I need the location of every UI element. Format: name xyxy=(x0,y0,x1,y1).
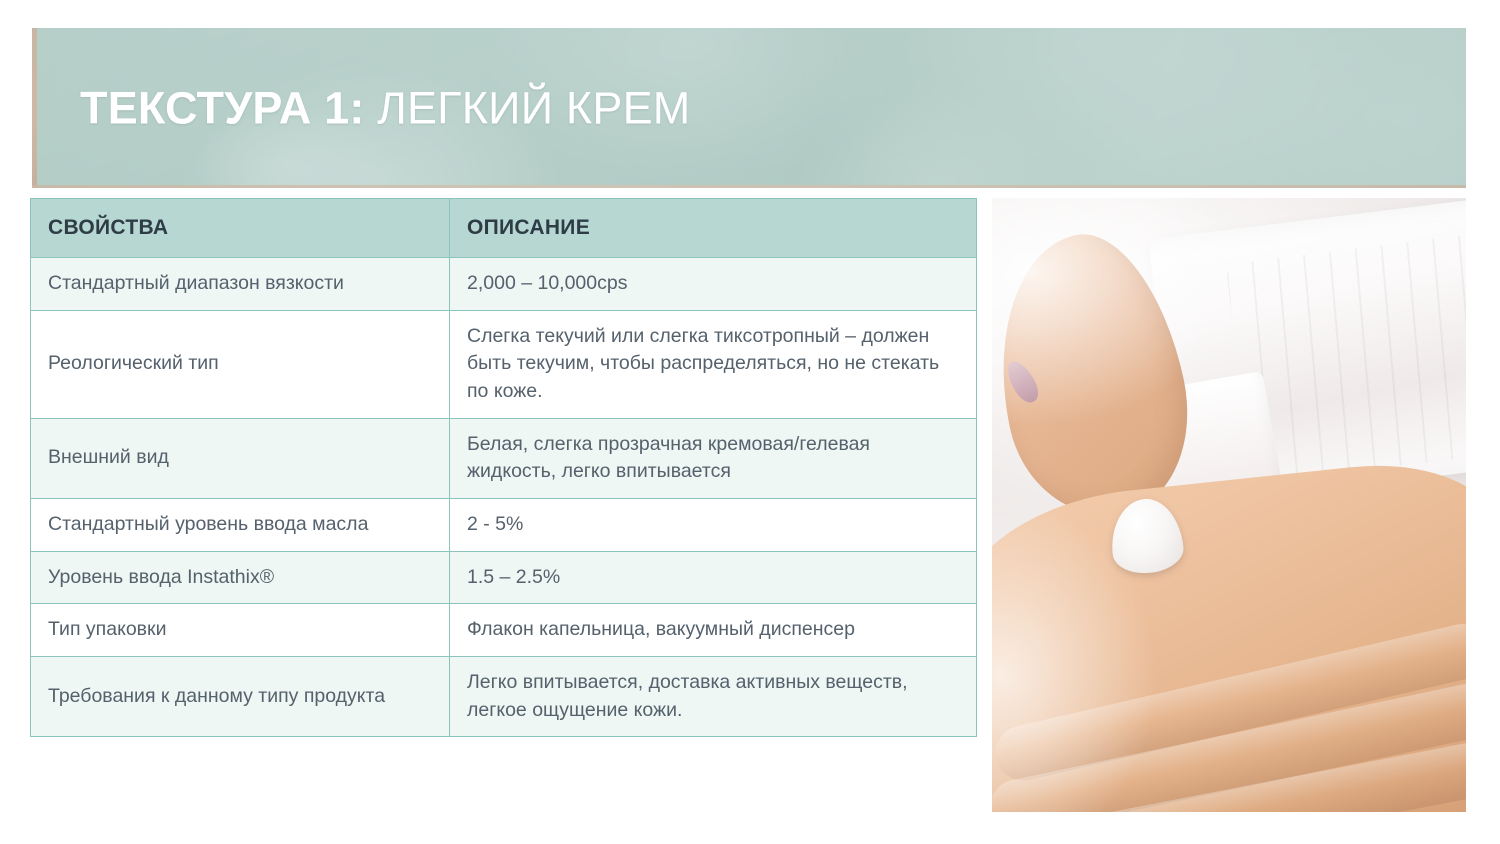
cell-description: Слегка текучий или слегка тиксотропный –… xyxy=(450,310,977,418)
page-title: ТЕКСТУРА 1: ЛЕГКИЙ КРЕМ xyxy=(80,84,690,131)
table-row: Внешний вид Белая, слегка прозрачная кре… xyxy=(31,418,977,498)
cell-property: Стандартный диапазон вязкости xyxy=(31,257,450,310)
table-header: СВОЙСТВА ОПИСАНИЕ xyxy=(31,199,977,258)
cell-description: 2,000 – 10,000cps xyxy=(450,257,977,310)
photo-fingernail xyxy=(1002,357,1043,407)
cell-property: Стандартный уровень ввода масла xyxy=(31,498,450,551)
table-row: Стандартный уровень ввода масла 2 - 5% xyxy=(31,498,977,551)
cell-property: Реологический тип xyxy=(31,310,450,418)
cell-description: Белая, слегка прозрачная кремовая/гелева… xyxy=(450,418,977,498)
cell-description: 1.5 – 2.5% xyxy=(450,551,977,604)
specifications-table: СВОЙСТВА ОПИСАНИЕ Стандартный диапазон в… xyxy=(30,198,977,737)
table-row: Уровень ввода Instathix® 1.5 – 2.5% xyxy=(31,551,977,604)
cell-description: Легко впитывается, доставка активных вещ… xyxy=(450,657,977,737)
page-title-strong: ТЕКСТУРА 1: xyxy=(80,82,365,133)
table-row: Тип упаковки Флакон капельница, вакуумны… xyxy=(31,604,977,657)
table-row: Реологический тип Слегка текучий или сле… xyxy=(31,310,977,418)
cell-property: Внешний вид xyxy=(31,418,450,498)
photo-palm xyxy=(992,453,1466,812)
table-row: Требования к данному типу продукта Легко… xyxy=(31,657,977,737)
column-header-description: ОПИСАНИЕ xyxy=(450,199,977,258)
cell-property: Тип упаковки xyxy=(31,604,450,657)
table-header-row: СВОЙСТВА ОПИСАНИЕ xyxy=(31,199,977,258)
header-banner: ТЕКСТУРА 1: ЛЕГКИЙ КРЕМ xyxy=(32,28,1466,188)
cell-description: Флакон капельница, вакуумный диспенсер xyxy=(450,604,977,657)
column-header-property: СВОЙСТВА xyxy=(31,199,450,258)
table-body: Стандартный диапазон вязкости 2,000 – 10… xyxy=(31,257,977,737)
cell-property: Уровень ввода Instathix® xyxy=(31,551,450,604)
product-photo xyxy=(992,198,1466,812)
table-row: Стандартный диапазон вязкости 2,000 – 10… xyxy=(31,257,977,310)
banner-bottom-accent-strip xyxy=(32,185,1466,188)
banner-left-accent-strip xyxy=(32,28,37,188)
slide: ТЕКСТУРА 1: ЛЕГКИЙ КРЕМ СВОЙСТВА ОПИСАНИ… xyxy=(0,0,1500,844)
page-title-light: ЛЕГКИЙ КРЕМ xyxy=(365,82,691,133)
cell-property: Требования к данному типу продукта xyxy=(31,657,450,737)
cell-description: 2 - 5% xyxy=(450,498,977,551)
